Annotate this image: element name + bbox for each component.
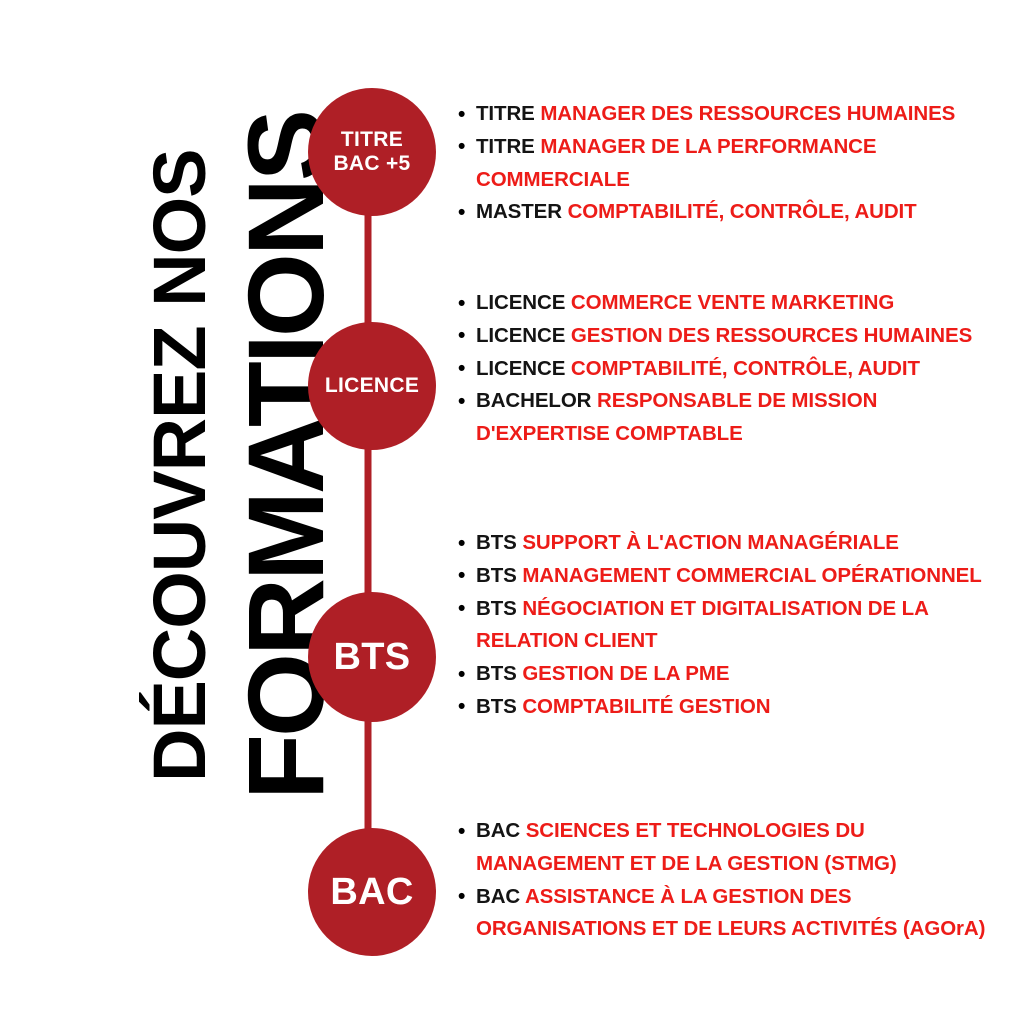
item-highlight: GESTION DES RESSOURCES HUMAINES [571, 324, 972, 347]
list-item: BTS COMPTABILITÉ GESTION [458, 691, 1014, 724]
item-highlight: SCIENCES ET TECHNOLOGIES DU MANAGEMENT E… [476, 819, 897, 875]
item-prefix: BTS [476, 695, 517, 718]
item-prefix: BTS [476, 564, 517, 587]
stage-node-label-line-1: BAC [330, 871, 413, 914]
item-prefix: BTS [476, 531, 517, 554]
list-item: BTS MANAGEMENT COMMERCIAL OPÉRATIONNEL [458, 560, 1014, 593]
list-item: BAC ASSISTANCE À LA GESTION DES ORGANISA… [458, 881, 1014, 947]
item-highlight: COMMERCE VENTE MARKETING [571, 291, 894, 314]
stage-node-label-line-2: BAC +5 [333, 152, 410, 176]
stage-list-licence: LICENCE COMMERCE VENTE MARKETING LICENCE… [458, 287, 1014, 451]
stage-node-label-line-1: BTS [334, 636, 411, 679]
list-item: BTS NÉGOCIATION ET DIGITALISATION DE LA … [458, 593, 1014, 659]
stage-node-label-line-1: TITRE [341, 128, 403, 152]
item-prefix: TITRE [476, 135, 535, 158]
stage-list-bac: BAC SCIENCES ET TECHNOLOGIES DU MANAGEME… [458, 815, 1014, 946]
stage-node-titre[interactable]: TITRE BAC +5 [308, 88, 436, 216]
item-prefix: BAC [476, 819, 520, 842]
item-highlight: MANAGER DE LA PERFORMANCE COMMERCIALE [476, 135, 876, 191]
list-item: TITRE MANAGER DE LA PERFORMANCE COMMERCI… [458, 131, 1014, 197]
item-highlight: MANAGER DES RESSOURCES HUMAINES [540, 102, 955, 125]
item-prefix: BTS [476, 662, 517, 685]
stage-node-bac[interactable]: BAC [308, 828, 436, 956]
item-prefix: BACHELOR [476, 389, 591, 412]
item-highlight: ASSISTANCE À LA GESTION DES ORGANISATION… [476, 885, 985, 941]
item-highlight: COMPTABILITÉ GESTION [522, 695, 770, 718]
stage-node-label-line-1: LICENCE [325, 374, 419, 398]
item-prefix: TITRE [476, 102, 535, 125]
item-highlight: GESTION DE LA PME [522, 662, 729, 685]
list-item: MASTER COMPTABILITÉ, CONTRÔLE, AUDIT [458, 196, 1014, 229]
stage-node-bts[interactable]: BTS [308, 592, 436, 722]
item-prefix: LICENCE [476, 291, 565, 314]
page-title-line-1: DÉCOUVREZ NOS [143, 149, 217, 782]
stage-list-bts: BTS SUPPORT À L'ACTION MANAGÉRIALE BTS M… [458, 527, 1014, 724]
item-prefix: MASTER [476, 200, 562, 223]
list-item: LICENCE COMMERCE VENTE MARKETING [458, 287, 1014, 320]
timeline-connector-line [365, 150, 372, 890]
list-item: BAC SCIENCES ET TECHNOLOGIES DU MANAGEME… [458, 815, 1014, 881]
item-highlight: MANAGEMENT COMMERCIAL OPÉRATIONNEL [522, 564, 981, 587]
stage-node-licence[interactable]: LICENCE [308, 322, 436, 450]
list-item: LICENCE COMPTABILITÉ, CONTRÔLE, AUDIT [458, 353, 1014, 386]
list-item: TITRE MANAGER DES RESSOURCES HUMAINES [458, 98, 1014, 131]
list-item: LICENCE GESTION DES RESSOURCES HUMAINES [458, 320, 1014, 353]
item-highlight: NÉGOCIATION ET DIGITALISATION DE LA RELA… [476, 597, 928, 653]
list-item: BTS SUPPORT À L'ACTION MANAGÉRIALE [458, 527, 1014, 560]
list-item: BTS GESTION DE LA PME [458, 658, 1014, 691]
item-prefix: BAC [476, 885, 520, 908]
item-highlight: SUPPORT À L'ACTION MANAGÉRIALE [522, 531, 899, 554]
item-highlight: COMPTABILITÉ, CONTRÔLE, AUDIT [568, 200, 917, 223]
item-highlight: COMPTABILITÉ, CONTRÔLE, AUDIT [571, 357, 920, 380]
item-prefix: BTS [476, 597, 517, 620]
page-title: DÉCOUVREZ NOS FORMATIONS [0, 0, 300, 1024]
item-prefix: LICENCE [476, 324, 565, 347]
list-item: BACHELOR RESPONSABLE DE MISSION D'EXPERT… [458, 385, 1014, 451]
stage-list-titre: TITRE MANAGER DES RESSOURCES HUMAINES TI… [458, 98, 1014, 229]
item-prefix: LICENCE [476, 357, 565, 380]
